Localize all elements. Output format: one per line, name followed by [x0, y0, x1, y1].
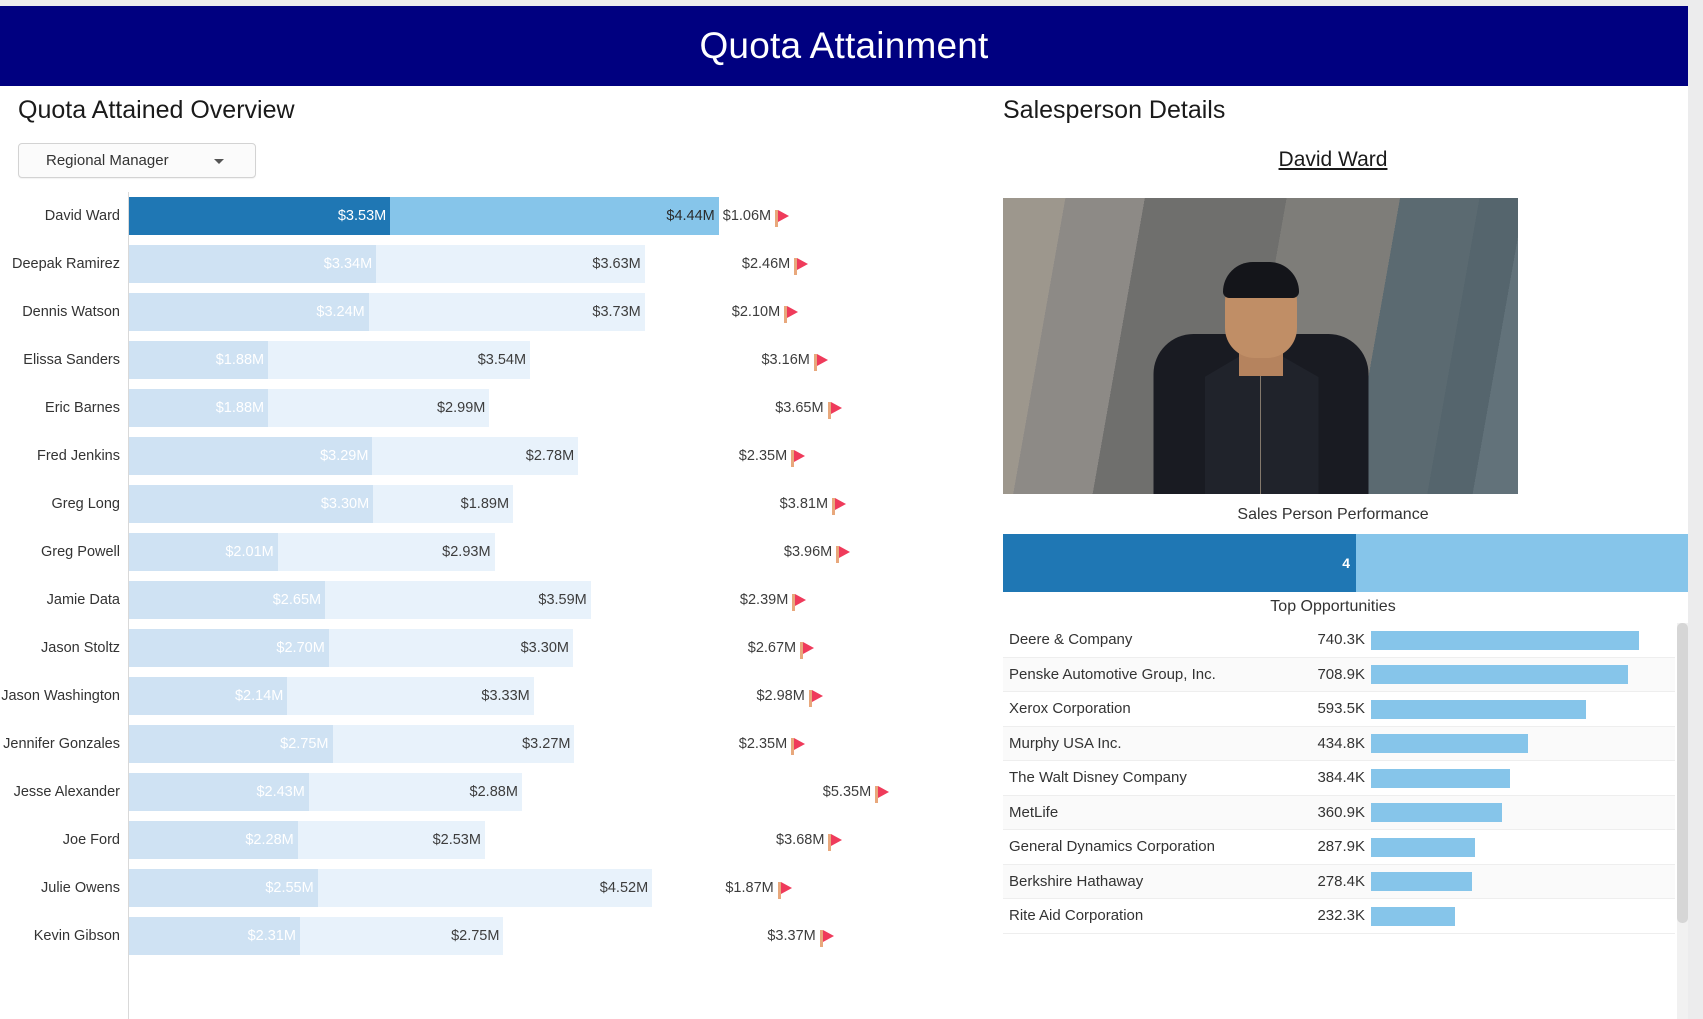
- attained-value-label: $3.34M: [324, 256, 376, 272]
- opportunity-value: 278.4K: [1283, 873, 1365, 890]
- opportunity-bar-track: [1371, 657, 1675, 692]
- opportunity-bar: [1371, 665, 1628, 684]
- gap-value-label: $3.96M: [784, 544, 832, 560]
- chart-row-label: Fred Jenkins: [0, 432, 120, 480]
- chart-row-label: Jamie Data: [0, 576, 120, 624]
- chevron-down-icon: [214, 159, 224, 164]
- quota-segment[interactable]: $2.88M: [309, 773, 522, 811]
- gap-value-label: $3.68M: [776, 832, 824, 848]
- chart-row-label: Jason Washington: [0, 672, 120, 720]
- salesperson-details-panel: David Ward Sales Person Performance 4 $4…: [1003, 136, 1688, 1019]
- flag-icon: [791, 738, 805, 755]
- opportunity-name: MetLife: [1003, 804, 1283, 821]
- regional-manager-dropdown[interactable]: Regional Manager: [18, 143, 256, 178]
- quota-segment[interactable]: $3.33M: [287, 677, 533, 715]
- gap-group: $3.65M: [775, 389, 841, 427]
- flag-icon: [875, 786, 889, 803]
- attained-segment[interactable]: $1.88M: [129, 341, 268, 379]
- opportunity-row[interactable]: Deere & Company740.3K: [1003, 623, 1675, 658]
- opportunity-name: General Dynamics Corporation: [1003, 838, 1283, 855]
- flag-icon: [775, 210, 789, 227]
- quota-segment[interactable]: $2.75M: [300, 917, 504, 955]
- opportunity-value: 593.5K: [1283, 700, 1365, 717]
- flag-icon: [828, 834, 842, 851]
- chart-row-label: Jennifer Gonzales: [0, 720, 120, 768]
- flag-icon: [794, 258, 808, 275]
- performance-quota-segment[interactable]: $4.44M: [1356, 534, 1688, 592]
- performance-chart-title: Sales Person Performance: [1003, 506, 1663, 524]
- attained-value-label: $2.28M: [245, 832, 297, 848]
- opportunity-bar: [1371, 872, 1472, 891]
- chart-row[interactable]: Jennifer Gonzales$2.75M$3.27M$2.35M: [0, 720, 985, 768]
- gap-group: $2.10M: [732, 293, 798, 331]
- quota-segment[interactable]: $3.59M: [325, 581, 591, 619]
- opportunity-name: Berkshire Hathaway: [1003, 873, 1283, 890]
- opportunity-bar: [1371, 734, 1528, 753]
- quota-value-label: $3.54M: [478, 352, 530, 368]
- attained-value-label: $2.70M: [276, 640, 328, 656]
- quota-segment[interactable]: $3.63M: [376, 245, 645, 283]
- opportunity-name: Penske Automotive Group, Inc.: [1003, 666, 1283, 683]
- gap-value-label: $3.81M: [780, 496, 828, 512]
- chart-row-bars: $3.34M$3.63M$2.46M: [129, 245, 985, 283]
- attained-segment[interactable]: $2.75M: [129, 725, 333, 763]
- chart-row-bars: $2.70M$3.30M$2.67M: [129, 629, 985, 667]
- gap-group: $1.06M: [723, 197, 789, 235]
- attained-value-label: $1.88M: [216, 352, 268, 368]
- chart-row-bars: $3.53M$4.44M$1.06M: [129, 197, 985, 235]
- scrollbar-thumb[interactable]: [1677, 623, 1688, 923]
- opportunity-name: Xerox Corporation: [1003, 700, 1283, 717]
- quota-value-label: $3.59M: [538, 592, 590, 608]
- quota-segment[interactable]: $3.54M: [268, 341, 530, 379]
- quota-segment[interactable]: $4.52M: [318, 869, 652, 907]
- quota-segment[interactable]: $1.89M: [373, 485, 513, 523]
- opportunity-bar: [1371, 838, 1475, 857]
- chart-row[interactable]: Jason Washington$2.14M$3.33M$2.98M: [0, 672, 985, 720]
- gap-group: $2.67M: [748, 629, 814, 667]
- chart-row-bars: $3.29M$2.78M$2.35M: [129, 437, 985, 475]
- opportunity-bar-track: [1371, 864, 1675, 899]
- attained-value-label: $3.53M: [338, 208, 390, 224]
- opportunity-value: 232.3K: [1283, 907, 1365, 924]
- flag-icon: [800, 642, 814, 659]
- chart-row-label: Jesse Alexander: [0, 768, 120, 816]
- gap-value-label: $1.06M: [723, 208, 771, 224]
- opportunity-name: Murphy USA Inc.: [1003, 735, 1283, 752]
- gap-value-label: $2.39M: [740, 592, 788, 608]
- flag-icon: [828, 402, 842, 419]
- gap-group: $2.39M: [740, 581, 806, 619]
- attained-segment[interactable]: $3.29M: [129, 437, 372, 475]
- chart-row-bars: $2.28M$2.53M$3.68M: [129, 821, 985, 859]
- quota-attainment-chart: David Ward$3.53M$4.44M$1.06MDeepak Ramir…: [0, 192, 985, 1019]
- quota-value-label: $4.44M: [666, 208, 718, 224]
- quota-value-label: $2.88M: [470, 784, 522, 800]
- chart-row[interactable]: Fred Jenkins$3.29M$2.78M$2.35M: [0, 432, 985, 480]
- flag-icon: [836, 546, 850, 563]
- gap-group: $5.35M: [823, 773, 889, 811]
- attained-segment[interactable]: $2.31M: [129, 917, 300, 955]
- performance-bar-chart: 4 $4.44M $1.06M: [1003, 534, 1663, 592]
- quota-segment[interactable]: $3.73M: [369, 293, 645, 331]
- quota-segment[interactable]: $2.99M: [268, 389, 489, 427]
- attained-segment[interactable]: $2.65M: [129, 581, 325, 619]
- flag-icon: [784, 306, 798, 323]
- attained-segment[interactable]: $2.28M: [129, 821, 298, 859]
- quota-value-label: $2.99M: [437, 400, 489, 416]
- opportunity-name: The Walt Disney Company: [1003, 769, 1283, 786]
- salesperson-photo: [1003, 198, 1518, 494]
- quota-value-label: $3.27M: [522, 736, 574, 752]
- top-opportunities-table: Deere & Company740.3KPenske Automotive G…: [1003, 623, 1675, 934]
- opportunity-value: 708.9K: [1283, 666, 1365, 683]
- chart-row-bars: $2.01M$2.93M$3.96M: [129, 533, 985, 571]
- chart-row[interactable]: Greg Powell$2.01M$2.93M$3.96M: [0, 528, 985, 576]
- attained-segment[interactable]: $3.30M: [129, 485, 373, 523]
- opportunity-bar-track: [1371, 830, 1675, 865]
- chart-row[interactable]: Deepak Ramirez$3.34M$3.63M$2.46M: [0, 240, 985, 288]
- gap-group: $2.35M: [739, 725, 805, 763]
- opportunity-bar-track: [1371, 726, 1675, 761]
- gap-group: $3.96M: [784, 533, 850, 571]
- chart-row[interactable]: Greg Long$3.30M$1.89M$3.81M: [0, 480, 985, 528]
- chart-row[interactable]: Dennis Watson$3.24M$3.73M$2.10M: [0, 288, 985, 336]
- quota-segment[interactable]: $3.30M: [329, 629, 573, 667]
- attained-value-label: $2.14M: [235, 688, 287, 704]
- gap-value-label: $2.98M: [756, 688, 804, 704]
- gap-group: $2.35M: [739, 437, 805, 475]
- chart-row[interactable]: Jesse Alexander$2.43M$2.88M$5.35M: [0, 768, 985, 816]
- gap-value-label: $3.16M: [761, 352, 809, 368]
- quota-value-label: $3.30M: [521, 640, 573, 656]
- quota-value-label: $2.93M: [442, 544, 494, 560]
- salesperson-name-link[interactable]: David Ward: [1003, 148, 1663, 172]
- gap-value-label: $2.46M: [742, 256, 790, 272]
- opportunity-value: 384.4K: [1283, 769, 1365, 786]
- opportunity-value: 740.3K: [1283, 631, 1365, 648]
- chart-row-label: Julie Owens: [0, 864, 120, 912]
- attained-value-label: $2.43M: [256, 784, 308, 800]
- quota-segment[interactable]: $3.27M: [333, 725, 575, 763]
- quota-segment[interactable]: $2.93M: [278, 533, 495, 571]
- opportunity-bar-track: [1371, 692, 1675, 727]
- opportunity-bar-track: [1371, 899, 1675, 934]
- attained-segment[interactable]: $2.01M: [129, 533, 278, 571]
- chart-row-bars: $3.24M$3.73M$2.10M: [129, 293, 985, 331]
- attained-segment[interactable]: $1.88M: [129, 389, 268, 427]
- quota-value-label: $3.63M: [592, 256, 644, 272]
- quota-value-label: $3.33M: [481, 688, 533, 704]
- chart-row-bars: $2.31M$2.75M$3.37M: [129, 917, 985, 955]
- attained-segment[interactable]: $2.43M: [129, 773, 309, 811]
- chart-row-bars: $2.65M$3.59M$2.39M: [129, 581, 985, 619]
- opportunity-bar-track: [1371, 623, 1675, 658]
- opportunity-row[interactable]: MetLife360.9K: [1003, 796, 1675, 831]
- chart-row[interactable]: Eric Barnes$1.88M$2.99M$3.65M: [0, 384, 985, 432]
- quota-segment[interactable]: $2.78M: [372, 437, 578, 475]
- chart-row-label: Jason Stoltz: [0, 624, 120, 672]
- gap-group: $3.68M: [776, 821, 842, 859]
- opportunity-bar-track: [1371, 761, 1675, 796]
- performance-attained-segment[interactable]: 4: [1003, 534, 1356, 592]
- gap-value-label: $5.35M: [823, 784, 871, 800]
- attained-segment[interactable]: $2.14M: [129, 677, 287, 715]
- chart-row-bars: $2.55M$4.52M$1.87M: [129, 869, 985, 907]
- chart-row-bars: $2.43M$2.88M$5.35M: [129, 773, 985, 811]
- gap-group: $3.37M: [767, 917, 833, 955]
- gap-value-label: $3.37M: [767, 928, 815, 944]
- photo-figure-hair: [1223, 262, 1299, 298]
- chart-row[interactable]: David Ward$3.53M$4.44M$1.06M: [0, 192, 985, 240]
- gap-value-label: $2.35M: [739, 448, 787, 464]
- chart-row[interactable]: Julie Owens$2.55M$4.52M$1.87M: [0, 864, 985, 912]
- quota-value-label: $2.75M: [451, 928, 503, 944]
- attained-value-label: $2.55M: [265, 880, 317, 896]
- quota-value-label: $4.52M: [600, 880, 652, 896]
- opportunity-value: 434.8K: [1283, 735, 1365, 752]
- attained-value-label: $3.30M: [321, 496, 373, 512]
- attained-value-label: $2.31M: [248, 928, 300, 944]
- attained-segment[interactable]: $3.53M: [129, 197, 390, 235]
- chart-row[interactable]: Kevin Gibson$2.31M$2.75M$3.37M: [0, 912, 985, 960]
- gap-value-label: $1.87M: [725, 880, 773, 896]
- opportunity-bar: [1371, 907, 1455, 926]
- opportunity-name: Deere & Company: [1003, 631, 1283, 648]
- flag-icon: [791, 450, 805, 467]
- flag-icon: [832, 498, 846, 515]
- chart-row[interactable]: Elissa Sanders$1.88M$3.54M$3.16M: [0, 336, 985, 384]
- flag-icon: [792, 594, 806, 611]
- opportunity-bar: [1371, 631, 1639, 650]
- chart-row[interactable]: Jason Stoltz$2.70M$3.30M$2.67M: [0, 624, 985, 672]
- opportunity-name: Rite Aid Corporation: [1003, 907, 1283, 924]
- gap-value-label: $3.65M: [775, 400, 823, 416]
- opportunity-row[interactable]: Rite Aid Corporation232.3K: [1003, 899, 1675, 934]
- attained-segment[interactable]: $2.55M: [129, 869, 318, 907]
- chart-row-label: Joe Ford: [0, 816, 120, 864]
- gap-group: $3.16M: [761, 341, 827, 379]
- gap-group: $1.87M: [725, 869, 791, 907]
- attained-value-label: $2.65M: [273, 592, 325, 608]
- flag-icon: [809, 690, 823, 707]
- quota-value-label: $1.89M: [461, 496, 513, 512]
- opportunity-row[interactable]: Penske Automotive Group, Inc.708.9K: [1003, 658, 1675, 693]
- quota-overview-heading: Quota Attained Overview: [18, 96, 295, 125]
- attained-value-label: $2.75M: [280, 736, 332, 752]
- chart-row-label: Kevin Gibson: [0, 912, 120, 960]
- top-opportunities-title: Top Opportunities: [1003, 598, 1663, 616]
- attained-segment[interactable]: $3.24M: [129, 293, 369, 331]
- chart-row-label: Greg Powell: [0, 528, 120, 576]
- chart-row-bars: $1.88M$2.99M$3.65M: [129, 389, 985, 427]
- attained-segment[interactable]: $2.70M: [129, 629, 329, 667]
- quota-value-label: $2.53M: [433, 832, 485, 848]
- chart-row-label: Eric Barnes: [0, 384, 120, 432]
- opportunity-row[interactable]: Xerox Corporation593.5K: [1003, 692, 1675, 727]
- chart-row-bars: $2.14M$3.33M$2.98M: [129, 677, 985, 715]
- opportunity-row[interactable]: General Dynamics Corporation287.9K: [1003, 830, 1675, 865]
- quota-segment[interactable]: $2.53M: [298, 821, 485, 859]
- opportunity-row[interactable]: Berkshire Hathaway278.4K: [1003, 865, 1675, 900]
- opportunity-bar: [1371, 769, 1510, 788]
- gap-group: $2.98M: [756, 677, 822, 715]
- chart-row-label: Deepak Ramirez: [0, 240, 120, 288]
- chart-row[interactable]: Joe Ford$2.28M$2.53M$3.68M: [0, 816, 985, 864]
- dashboard-canvas: Quota Attainment Quota Attained Overview…: [0, 6, 1688, 1019]
- chart-row-bars: $3.30M$1.89M$3.81M: [129, 485, 985, 523]
- flag-icon: [820, 930, 834, 947]
- gap-group: $3.81M: [780, 485, 846, 523]
- quota-value-label: $3.73M: [592, 304, 644, 320]
- opportunity-row[interactable]: Murphy USA Inc.434.8K: [1003, 727, 1675, 762]
- dropdown-selected-value: Regional Manager: [46, 152, 169, 169]
- quota-segment[interactable]: $4.44M: [390, 197, 719, 235]
- chart-row-bars: $1.88M$3.54M$3.16M: [129, 341, 985, 379]
- chart-row-label: Greg Long: [0, 480, 120, 528]
- quota-value-label: $2.78M: [526, 448, 578, 464]
- page-banner: Quota Attainment: [0, 6, 1688, 86]
- chart-row-label: Elissa Sanders: [0, 336, 120, 384]
- opportunity-bar: [1371, 803, 1502, 822]
- chart-row[interactable]: Jamie Data$2.65M$3.59M$2.39M: [0, 576, 985, 624]
- opportunity-bar-track: [1371, 795, 1675, 830]
- gap-group: $2.46M: [742, 245, 808, 283]
- attained-segment[interactable]: $3.34M: [129, 245, 376, 283]
- performance-attained-label: 4: [1342, 555, 1356, 571]
- attained-value-label: $1.88M: [216, 400, 268, 416]
- gap-value-label: $2.35M: [739, 736, 787, 752]
- flag-icon: [814, 354, 828, 371]
- salesperson-details-heading: Salesperson Details: [1003, 96, 1225, 125]
- attained-value-label: $2.01M: [225, 544, 277, 560]
- opportunity-value: 287.9K: [1283, 838, 1365, 855]
- opportunities-scrollbar[interactable]: [1677, 623, 1688, 1019]
- opportunity-value: 360.9K: [1283, 804, 1365, 821]
- chart-row-label: Dennis Watson: [0, 288, 120, 336]
- page-title: Quota Attainment: [699, 25, 988, 67]
- opportunity-row[interactable]: The Walt Disney Company384.4K: [1003, 761, 1675, 796]
- chart-row-bars: $2.75M$3.27M$2.35M: [129, 725, 985, 763]
- attained-value-label: $3.29M: [320, 448, 372, 464]
- gap-value-label: $2.10M: [732, 304, 780, 320]
- chart-row-label: David Ward: [0, 192, 120, 240]
- dashboard-page: Quota Attainment Quota Attained Overview…: [0, 0, 1703, 1019]
- opportunity-bar: [1371, 700, 1586, 719]
- attained-value-label: $3.24M: [316, 304, 368, 320]
- gap-value-label: $2.67M: [748, 640, 796, 656]
- flag-icon: [778, 882, 792, 899]
